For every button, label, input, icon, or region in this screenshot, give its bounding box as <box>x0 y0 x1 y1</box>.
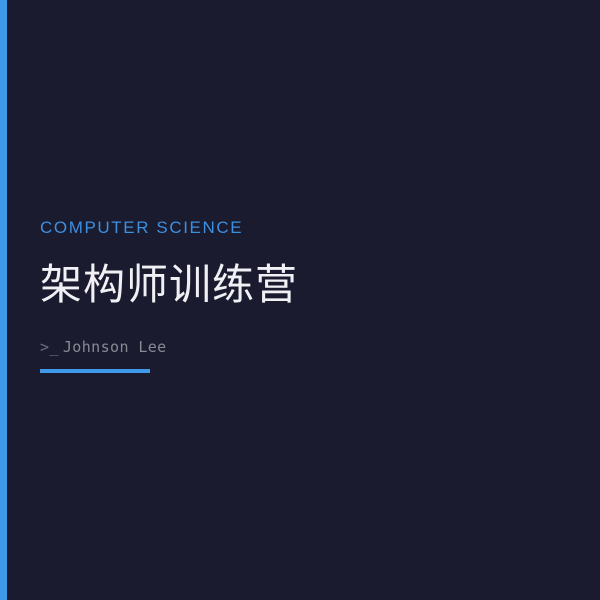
author-name: Johnson Lee <box>63 338 167 356</box>
page-title: 架构师训练营 <box>40 260 560 310</box>
accent-underline-bar <box>40 369 150 373</box>
author-byline: >_Johnson Lee <box>40 338 560 356</box>
left-accent-stripe <box>0 0 7 600</box>
terminal-prompt-icon: >_ <box>40 338 59 356</box>
category-eyebrow: COMPUTER SCIENCE <box>40 218 560 238</box>
content-block: COMPUTER SCIENCE 架构师训练营 >_Johnson Lee <box>40 218 560 373</box>
course-title-card: COMPUTER SCIENCE 架构师训练营 >_Johnson Lee <box>0 0 600 600</box>
